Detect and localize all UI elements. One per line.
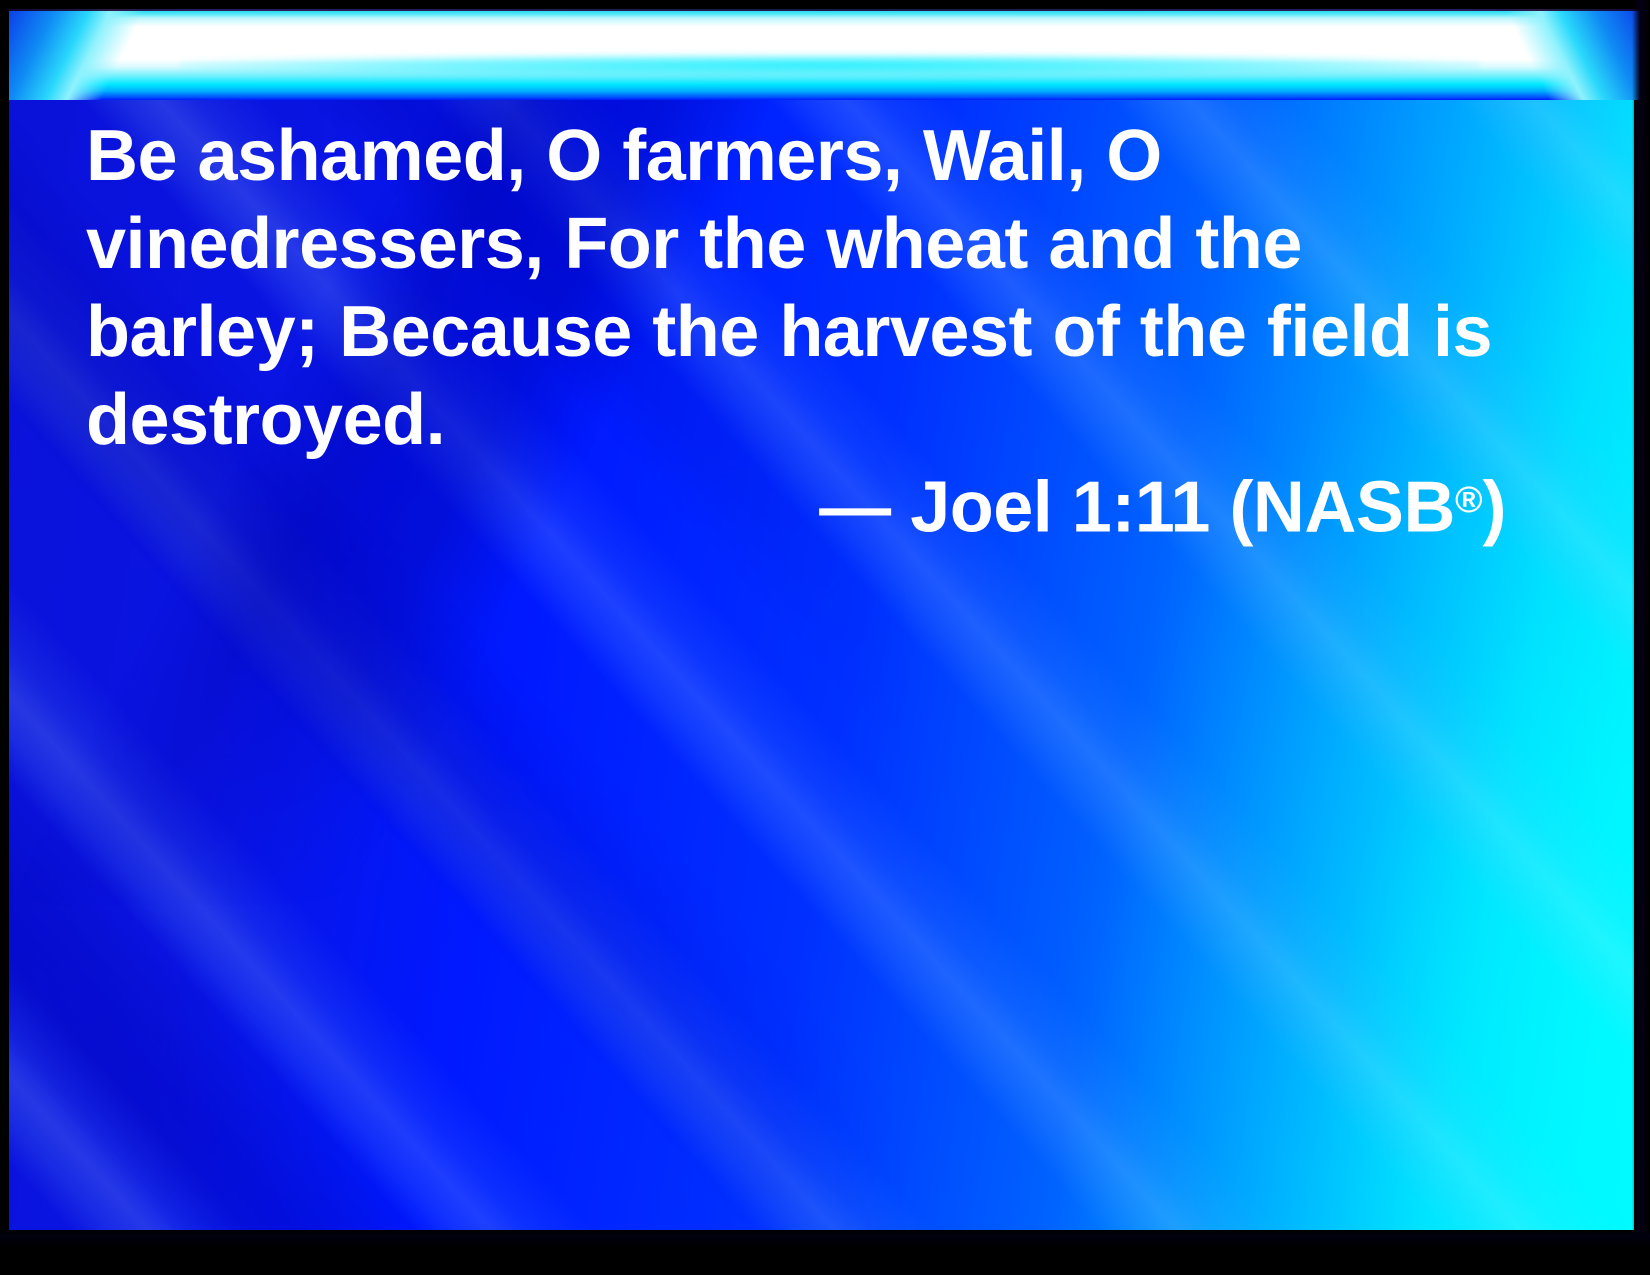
- citation-book: Joel: [910, 467, 1052, 547]
- citation-space-3: [1210, 467, 1230, 547]
- citation-space-2: [1052, 467, 1072, 547]
- verse-citation: — Joel 1:11 (NASB®): [86, 455, 1506, 551]
- citation-open-paren: (: [1229, 467, 1252, 547]
- citation-space-1: [891, 467, 911, 547]
- top-banner-cyan-smear: [180, 54, 1480, 76]
- frame-left-edge: [0, 0, 9, 1275]
- frame-right-edge: [1632, 0, 1650, 1275]
- verse-block: Be ashamed, O farmers, Wail, O vinedress…: [86, 112, 1506, 464]
- citation-reference: 1:11: [1072, 467, 1210, 547]
- verse-text: Be ashamed, O farmers, Wail, O vinedress…: [86, 112, 1506, 464]
- scripture-slide: Be ashamed, O farmers, Wail, O vinedress…: [0, 0, 1650, 1275]
- frame-top-edge: [0, 0, 1650, 9]
- citation-close-paren: ): [1483, 467, 1506, 547]
- citation-translation: NASB: [1253, 467, 1455, 547]
- citation-dash: —: [819, 467, 891, 547]
- frame-bottom-edge: [0, 1230, 1650, 1275]
- registered-trademark-icon: ®: [1455, 478, 1483, 520]
